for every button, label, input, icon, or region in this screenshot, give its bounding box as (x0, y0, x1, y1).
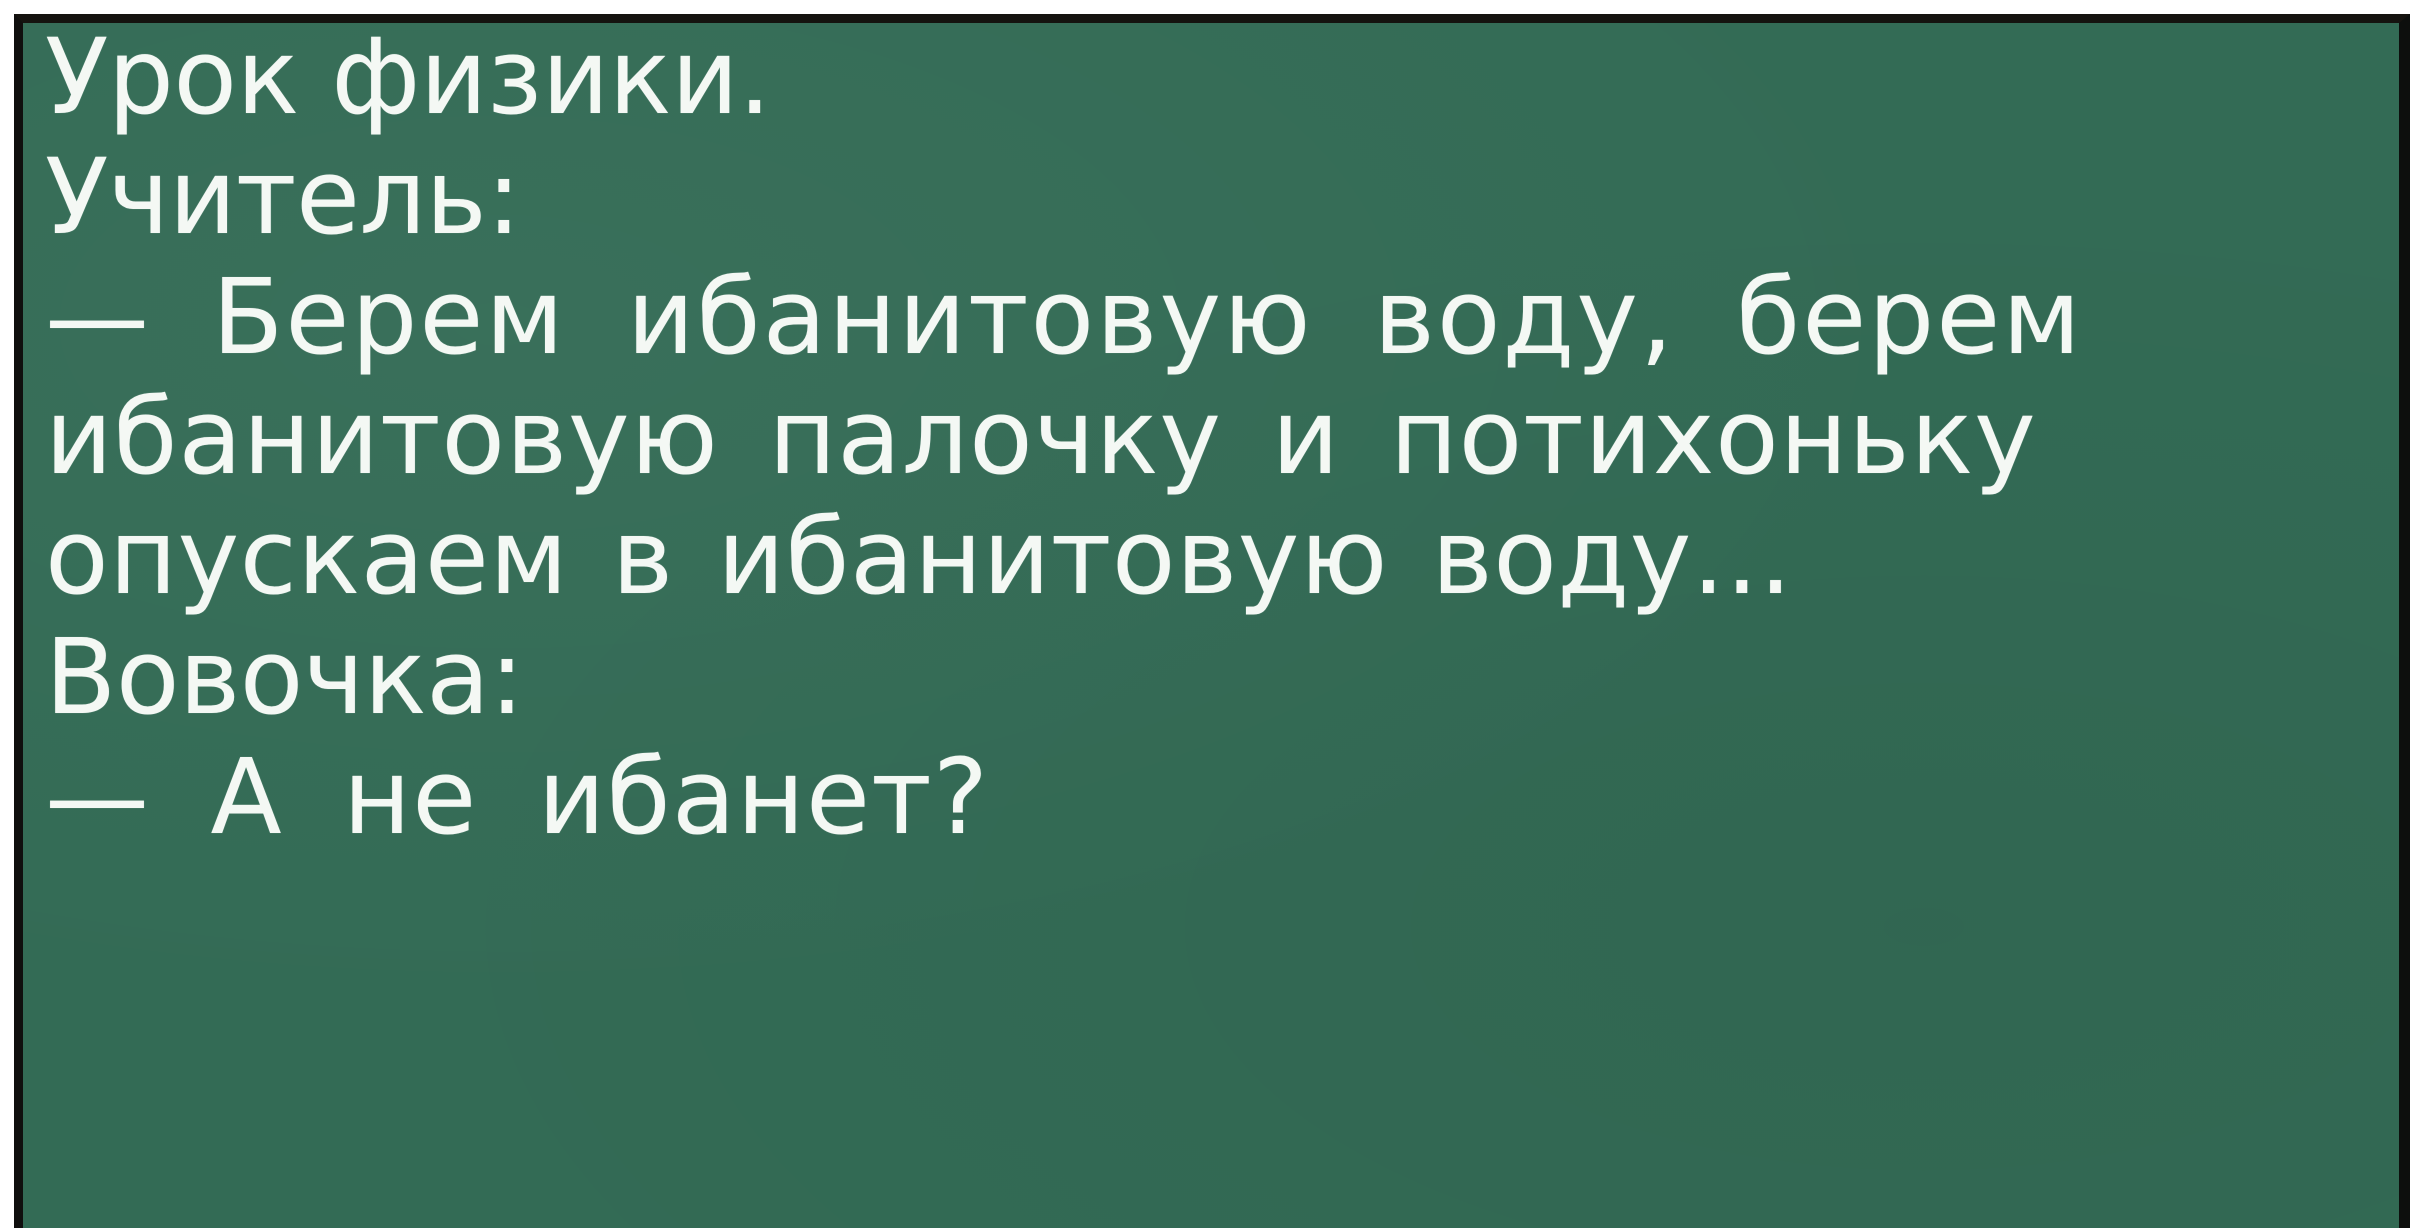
joke-line-1: Урок физики. (45, 23, 2387, 137)
chalkboard-background: Урок физики. Учитель: — Берем ибанитовую… (23, 23, 2399, 1228)
joke-line-3: — Берем ибанитовую воду, берем (45, 257, 2387, 377)
joke-line-2: Учитель: (45, 137, 2387, 257)
card-border-frame: Урок физики. Учитель: — Берем ибанитовую… (14, 14, 2410, 1228)
joke-line-7: — А не ибанет? (45, 737, 2387, 857)
joke-text-block: Урок физики. Учитель: — Берем ибанитовую… (45, 23, 2387, 857)
page-canvas: Урок физики. Учитель: — Берем ибанитовую… (0, 0, 2426, 1228)
joke-line-4: ибанитовую палочку и потихоньку (45, 377, 2387, 497)
joke-line-6: Вовочка: (45, 617, 2387, 737)
joke-line-5: опускаем в ибанитовую воду... (45, 497, 2387, 617)
